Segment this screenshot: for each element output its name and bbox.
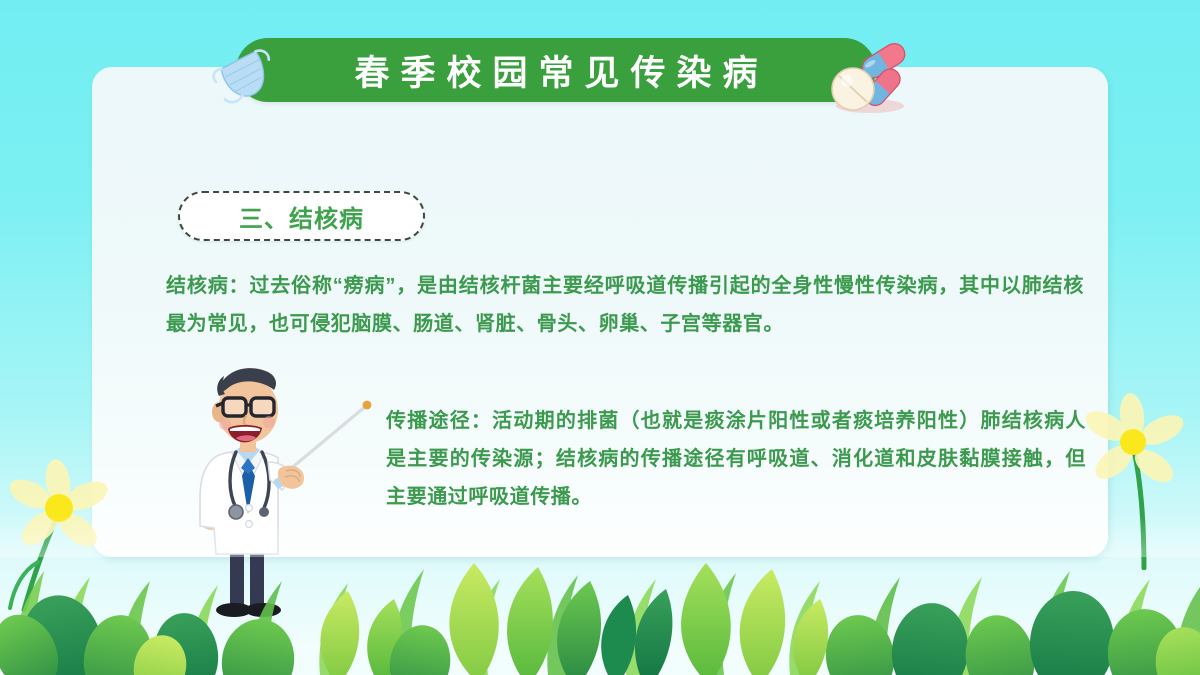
- banner-title: 春季校园常见传染病: [236, 38, 876, 102]
- section-badge-label: 三、结核病: [239, 199, 364, 234]
- section-badge: 三、结核病: [178, 191, 425, 241]
- pointer-stick: [282, 401, 371, 476]
- slide-stage: 春季校园常见传染病 三、结核病 结核病：过去俗称“痨病”，是由结核杆菌主要经呼吸…: [0, 0, 1200, 675]
- paragraph-definition: 结核病：过去俗称“痨病”，是由结核杆菌主要经呼吸道传播引起的全身性慢性传染病，其…: [166, 267, 1084, 343]
- title-banner: 春季校园常见传染病: [236, 38, 876, 102]
- glasses-icon: [216, 398, 274, 416]
- foliage-border: [0, 515, 1200, 675]
- paragraph-transmission: 传播途径：活动期的排菌（也就是痰涂片阳性或者痰培养阳性）肺结核病人是主要的传染源…: [386, 402, 1086, 516]
